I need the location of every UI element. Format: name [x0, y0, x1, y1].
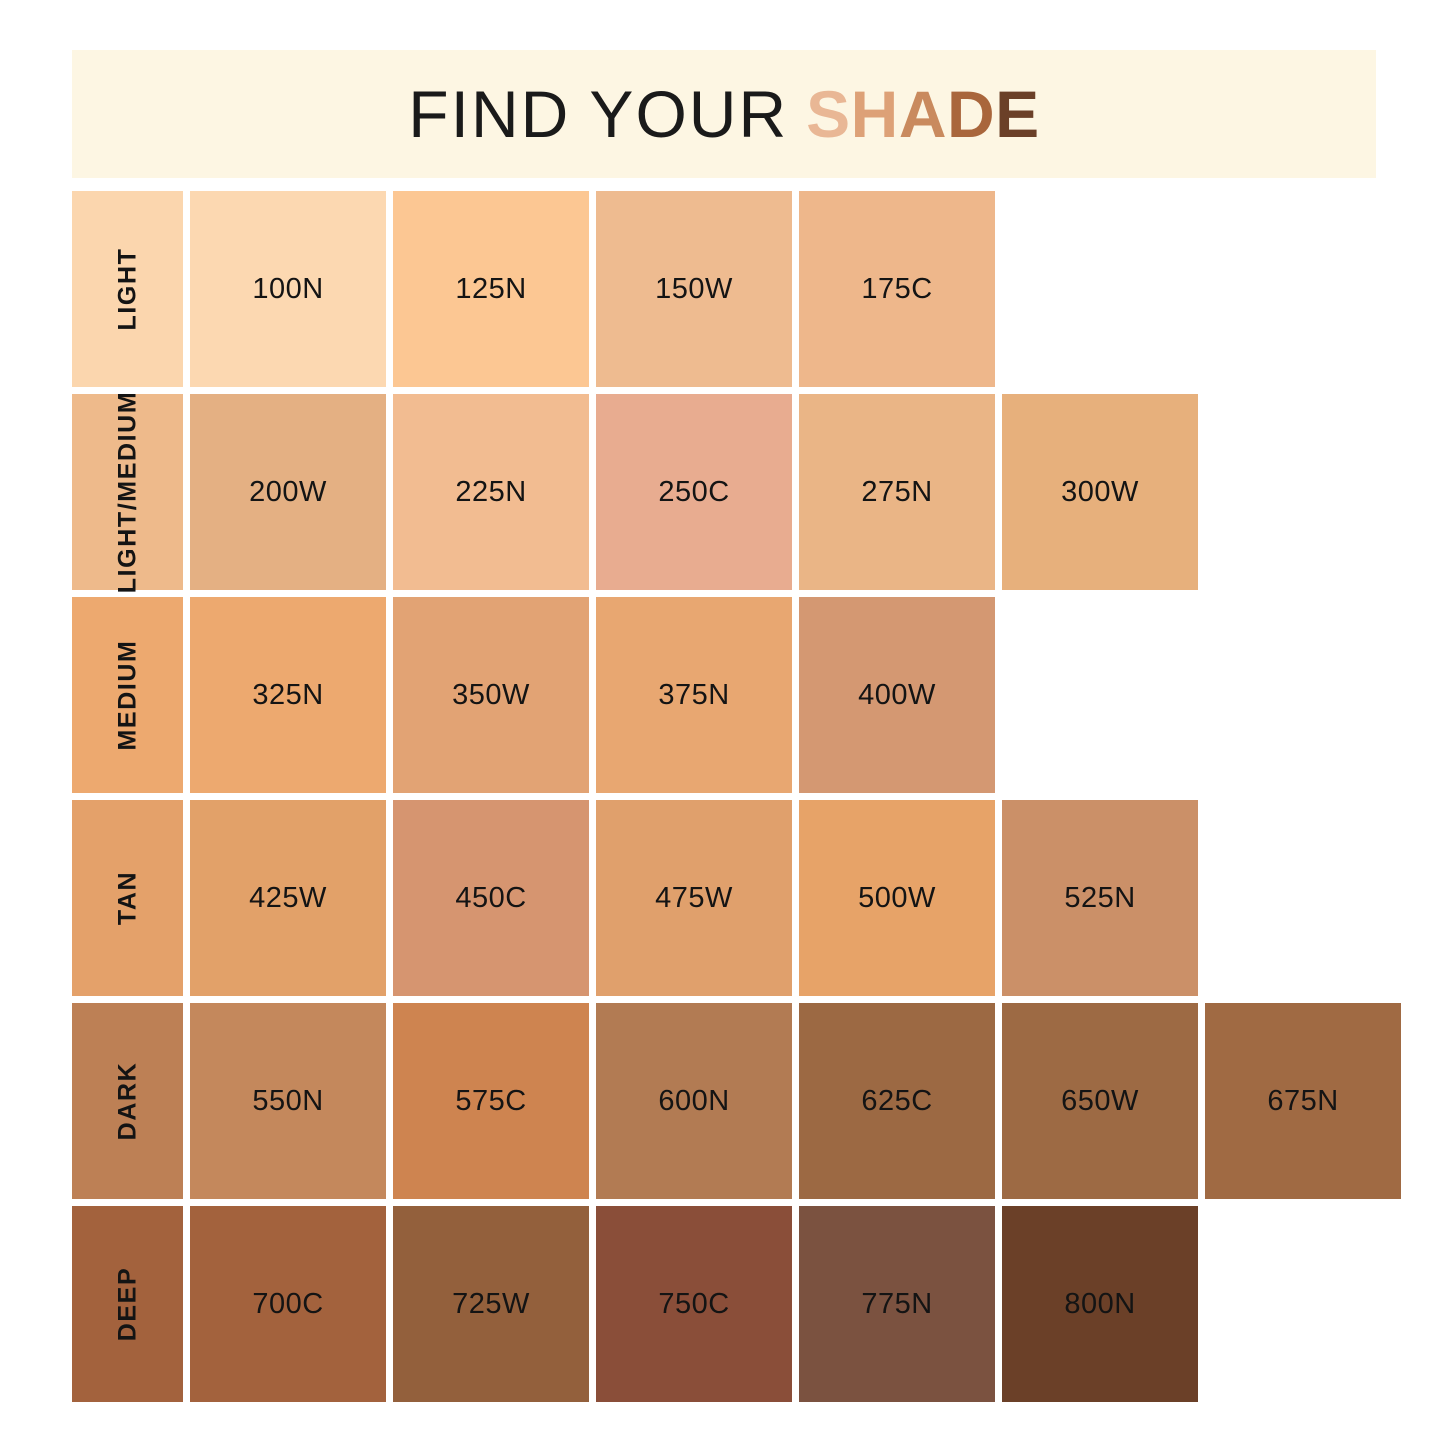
shade-chart-page: FIND YOUR SHADE LIGHT100N125N150W175CLIG…	[0, 0, 1445, 1445]
page-title-plain: FIND YOUR	[408, 81, 788, 147]
shade-row-label-text: DEEP	[113, 1267, 142, 1341]
title-accent-letter: A	[899, 81, 947, 147]
shade-row-label-cell: LIGHT/MEDIUM	[72, 394, 183, 590]
shade-swatch-code: 500W	[858, 882, 936, 915]
shade-row: TAN425W450C475W500W525N	[72, 800, 1401, 996]
shade-swatch[interactable]: 800N	[1002, 1206, 1198, 1402]
shade-swatch-code: 625C	[861, 1085, 932, 1118]
shade-swatch-code: 775N	[861, 1288, 932, 1321]
shade-swatch[interactable]: 650W	[1002, 1003, 1198, 1199]
shade-swatch-code: 400W	[858, 679, 936, 712]
shade-swatch[interactable]: 150W	[596, 191, 792, 387]
shade-swatch-code: 200W	[249, 476, 327, 509]
shade-swatch[interactable]: 275N	[799, 394, 995, 590]
shade-swatch[interactable]: 200W	[190, 394, 386, 590]
shade-swatch[interactable]: 125N	[393, 191, 589, 387]
shade-swatch-code: 650W	[1061, 1085, 1139, 1118]
shade-swatch[interactable]: 725W	[393, 1206, 589, 1402]
shade-swatch-code: 525N	[1064, 882, 1135, 915]
shade-swatch-code: 700C	[252, 1288, 323, 1321]
shade-swatch[interactable]: 500W	[799, 800, 995, 996]
shade-swatch[interactable]: 175C	[799, 191, 995, 387]
shade-swatch-code: 125N	[455, 273, 526, 306]
shade-swatch[interactable]: 325N	[190, 597, 386, 793]
shade-swatch[interactable]: 400W	[799, 597, 995, 793]
shade-swatch-code: 425W	[249, 882, 327, 915]
shade-row: DEEP700C725W750C775N800N	[72, 1206, 1401, 1402]
shade-row-label-cell: TAN	[72, 800, 183, 996]
page-title: FIND YOUR SHADE	[408, 81, 1039, 147]
shade-swatch-code: 800N	[1064, 1288, 1135, 1321]
shade-swatch-code: 750C	[658, 1288, 729, 1321]
shade-swatch[interactable]: 225N	[393, 394, 589, 590]
title-accent-letter: E	[995, 81, 1040, 147]
shade-swatch[interactable]: 550N	[190, 1003, 386, 1199]
shade-swatch[interactable]: 475W	[596, 800, 792, 996]
shade-swatch-code: 375N	[658, 679, 729, 712]
shade-swatch[interactable]: 250C	[596, 394, 792, 590]
shade-swatch[interactable]: 425W	[190, 800, 386, 996]
shade-swatch[interactable]: 700C	[190, 1206, 386, 1402]
title-accent-letter: H	[851, 81, 899, 147]
shade-row-label-cell: LIGHT	[72, 191, 183, 387]
shade-swatch-code: 350W	[452, 679, 530, 712]
title-banner: FIND YOUR SHADE	[72, 50, 1376, 178]
shade-row-label-text: LIGHT/MEDIUM	[113, 391, 142, 594]
shade-swatch-code: 275N	[861, 476, 932, 509]
shade-row-label-text: DARK	[113, 1062, 142, 1141]
shade-swatch-code: 600N	[658, 1085, 729, 1118]
shade-swatch[interactable]: 775N	[799, 1206, 995, 1402]
shade-swatch[interactable]: 575C	[393, 1003, 589, 1199]
title-accent-letter: D	[947, 81, 995, 147]
shade-swatch-code: 150W	[655, 273, 733, 306]
title-accent-letter: S	[806, 81, 851, 147]
shade-swatch-code: 300W	[1061, 476, 1139, 509]
shade-swatch-code: 100N	[252, 273, 323, 306]
shade-grid: LIGHT100N125N150W175CLIGHT/MEDIUM200W225…	[72, 191, 1401, 1402]
shade-swatch-code: 675N	[1267, 1085, 1338, 1118]
shade-swatch[interactable]: 375N	[596, 597, 792, 793]
shade-row-label-cell: DEEP	[72, 1206, 183, 1402]
shade-swatch-code: 225N	[455, 476, 526, 509]
shade-swatch[interactable]: 450C	[393, 800, 589, 996]
shade-swatch[interactable]: 350W	[393, 597, 589, 793]
shade-row: LIGHT100N125N150W175C	[72, 191, 1401, 387]
shade-swatch[interactable]: 750C	[596, 1206, 792, 1402]
shade-swatch-code: 325N	[252, 679, 323, 712]
shade-swatch[interactable]: 525N	[1002, 800, 1198, 996]
shade-row-label-cell: DARK	[72, 1003, 183, 1199]
shade-swatch-code: 725W	[452, 1288, 530, 1321]
shade-swatch-code: 575C	[455, 1085, 526, 1118]
shade-swatch-code: 175C	[861, 273, 932, 306]
shade-row: DARK550N575C600N625C650W675N	[72, 1003, 1401, 1199]
shade-swatch[interactable]: 300W	[1002, 394, 1198, 590]
shade-swatch-code: 450C	[455, 882, 526, 915]
shade-swatch-code: 550N	[252, 1085, 323, 1118]
shade-row: MEDIUM325N350W375N400W	[72, 597, 1401, 793]
shade-row-label-cell: MEDIUM	[72, 597, 183, 793]
shade-row: LIGHT/MEDIUM200W225N250C275N300W	[72, 394, 1401, 590]
shade-row-label-text: MEDIUM	[113, 640, 142, 751]
shade-swatch[interactable]: 600N	[596, 1003, 792, 1199]
shade-row-label-text: TAN	[113, 871, 142, 925]
shade-swatch[interactable]: 100N	[190, 191, 386, 387]
shade-row-label-text: LIGHT	[113, 248, 142, 331]
shade-swatch[interactable]: 675N	[1205, 1003, 1401, 1199]
shade-swatch-code: 250C	[658, 476, 729, 509]
shade-swatch-code: 475W	[655, 882, 733, 915]
shade-swatch[interactable]: 625C	[799, 1003, 995, 1199]
page-title-accent: SHADE	[806, 81, 1040, 147]
